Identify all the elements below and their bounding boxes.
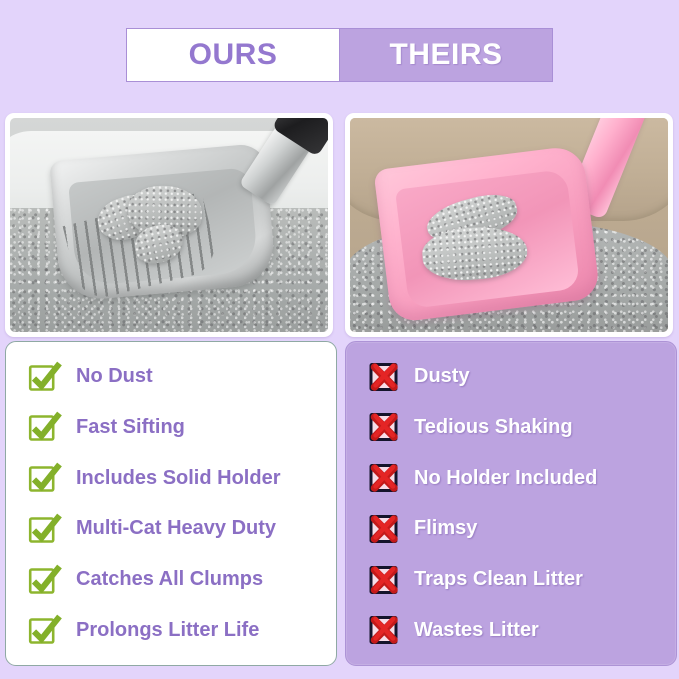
list-item-label: Multi-Cat Heavy Duty bbox=[76, 517, 276, 540]
x-icon bbox=[368, 462, 400, 494]
list-item: Dusty bbox=[346, 356, 676, 397]
tab-ours[interactable]: OURS bbox=[126, 28, 340, 82]
list-item: Fast Sifting bbox=[6, 407, 336, 448]
x-icon bbox=[368, 361, 400, 393]
photo-card-theirs bbox=[345, 113, 673, 337]
tab-theirs-label: THEIRS bbox=[389, 38, 502, 72]
photo-card-ours bbox=[5, 113, 333, 337]
x-icon bbox=[368, 411, 400, 443]
list-item: Includes Solid Holder bbox=[6, 458, 336, 499]
list-item-label: Traps Clean Litter bbox=[414, 568, 583, 591]
list-item-label: Tedious Shaking bbox=[414, 416, 573, 439]
product-photo-theirs bbox=[350, 118, 668, 332]
list-item: Flimsy bbox=[346, 508, 676, 549]
feature-list-theirs: Dusty Tedious Shaking No Holder Included bbox=[345, 341, 677, 666]
list-item-label: No Holder Included bbox=[414, 467, 597, 490]
list-item: Traps Clean Litter bbox=[346, 559, 676, 600]
check-icon bbox=[28, 462, 62, 494]
check-icon bbox=[28, 614, 62, 646]
product-photo-ours bbox=[10, 118, 328, 332]
list-item: Catches All Clumps bbox=[6, 559, 336, 600]
list-item: Prolongs Litter Life bbox=[6, 610, 336, 651]
list-item: No Holder Included bbox=[346, 458, 676, 499]
tab-theirs[interactable]: THEIRS bbox=[340, 28, 553, 82]
list-item: Wastes Litter bbox=[346, 610, 676, 651]
list-item-label: Includes Solid Holder bbox=[76, 467, 280, 490]
list-item-label: Wastes Litter bbox=[414, 619, 539, 642]
list-item-label: Dusty bbox=[414, 365, 470, 388]
list-item-label: No Dust bbox=[76, 365, 153, 388]
list-item: No Dust bbox=[6, 356, 336, 397]
check-icon bbox=[28, 513, 62, 545]
list-item-label: Flimsy bbox=[414, 517, 477, 540]
feature-list-ours: No Dust Fast Sifting Includes Solid Hold… bbox=[5, 341, 337, 666]
check-icon bbox=[28, 411, 62, 443]
comparison-header: OURS THEIRS bbox=[126, 28, 553, 82]
metal-scoop bbox=[49, 143, 277, 303]
list-item-label: Catches All Clumps bbox=[76, 568, 263, 591]
plastic-scoop-pink bbox=[373, 144, 600, 323]
list-item-label: Fast Sifting bbox=[76, 416, 185, 439]
x-icon bbox=[368, 564, 400, 596]
list-item-label: Prolongs Litter Life bbox=[76, 619, 259, 642]
check-icon bbox=[28, 564, 62, 596]
list-item: Multi-Cat Heavy Duty bbox=[6, 508, 336, 549]
tab-ours-label: OURS bbox=[189, 38, 278, 72]
check-icon bbox=[28, 361, 62, 393]
list-item: Tedious Shaking bbox=[346, 407, 676, 448]
x-icon bbox=[368, 614, 400, 646]
x-icon bbox=[368, 513, 400, 545]
